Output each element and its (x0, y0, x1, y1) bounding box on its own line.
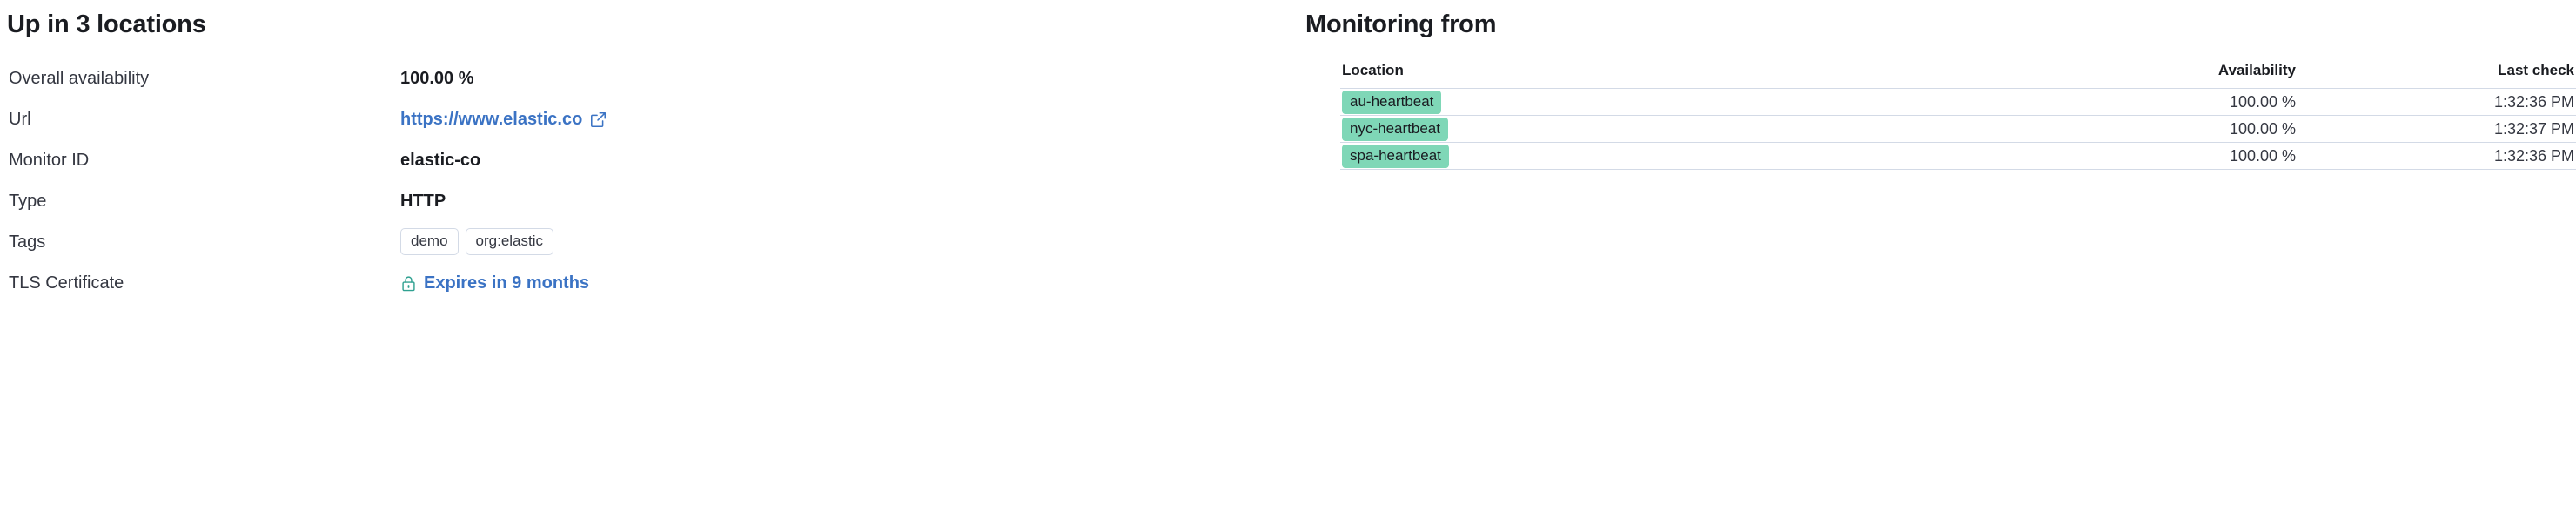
monitor-url-text: https://www.elastic.co (400, 109, 582, 130)
cell-last-check: 1:32:36 PM (2298, 143, 2576, 170)
cell-location: nyc-heartbeat (1340, 116, 1880, 143)
detail-row-monitor-id: Monitor ID elastic-co (0, 141, 1305, 179)
label-tls-certificate: TLS Certificate (0, 273, 400, 293)
cell-availability: 100.00 % (1880, 116, 2298, 143)
detail-row-tags: Tags demo org:elastic (0, 223, 1305, 260)
value-type: HTTP (400, 191, 446, 212)
locations-table-body: au-heartbeat 100.00 % 1:32:36 PM nyc-hea… (1340, 89, 2576, 170)
label-url: Url (0, 109, 400, 130)
value-tags: demo org:elastic (400, 228, 553, 255)
location-badge[interactable]: au-heartbeat (1342, 91, 1441, 114)
detail-row-url: Url https://www.elastic.co (0, 100, 1305, 138)
column-header-last-check[interactable]: Last check (2298, 62, 2576, 89)
table-header-row: Location Availability Last check (1340, 62, 2576, 89)
monitoring-from-title: Monitoring from (1305, 0, 2576, 39)
column-header-availability[interactable]: Availability (1880, 62, 2298, 89)
locations-table: Location Availability Last check au-hear… (1340, 62, 2576, 170)
label-tags: Tags (0, 232, 400, 253)
tag-chip-list: demo org:elastic (400, 228, 553, 255)
table-row: spa-heartbeat 100.00 % 1:32:36 PM (1340, 143, 2576, 170)
tag-chip[interactable]: demo (400, 228, 459, 255)
monitoring-locations-panel: Monitoring from Location Availability La… (1305, 0, 2576, 170)
label-monitor-id: Monitor ID (0, 150, 400, 171)
monitor-detail-list: Overall availability 100.00 % Url https:… (0, 59, 1305, 301)
table-row: au-heartbeat 100.00 % 1:32:36 PM (1340, 89, 2576, 116)
detail-row-overall-availability: Overall availability 100.00 % (0, 59, 1305, 97)
detail-row-tls-certificate: TLS Certificate Expires in 9 months (0, 264, 1305, 301)
external-link-icon (590, 111, 607, 128)
label-type: Type (0, 191, 400, 212)
table-row: nyc-heartbeat 100.00 % 1:32:37 PM (1340, 116, 2576, 143)
cell-availability: 100.00 % (1880, 143, 2298, 170)
page-title: Up in 3 locations (0, 0, 1305, 39)
locations-table-head: Location Availability Last check (1340, 62, 2576, 89)
monitor-url-link[interactable]: https://www.elastic.co (400, 109, 607, 130)
cell-location: spa-heartbeat (1340, 143, 1880, 170)
monitor-detail-page: Up in 3 locations Overall availability 1… (0, 0, 2576, 519)
cell-availability: 100.00 % (1880, 89, 2298, 116)
detail-row-type: Type HTTP (0, 182, 1305, 219)
value-monitor-id: elastic-co (400, 150, 480, 171)
label-overall-availability: Overall availability (0, 68, 400, 89)
cell-location: au-heartbeat (1340, 89, 1880, 116)
cell-last-check: 1:32:37 PM (2298, 116, 2576, 143)
lock-icon (400, 275, 417, 292)
value-tls-certificate: Expires in 9 months (400, 273, 589, 293)
cell-last-check: 1:32:36 PM (2298, 89, 2576, 116)
tls-certificate-text: Expires in 9 months (424, 273, 589, 293)
tls-certificate-link[interactable]: Expires in 9 months (400, 273, 589, 293)
value-overall-availability: 100.00 % (400, 68, 474, 89)
monitor-summary-panel: Up in 3 locations Overall availability 1… (0, 0, 1305, 301)
column-header-location[interactable]: Location (1340, 62, 1880, 89)
location-badge[interactable]: nyc-heartbeat (1342, 118, 1448, 141)
tag-chip[interactable]: org:elastic (466, 228, 553, 255)
location-badge[interactable]: spa-heartbeat (1342, 145, 1449, 168)
